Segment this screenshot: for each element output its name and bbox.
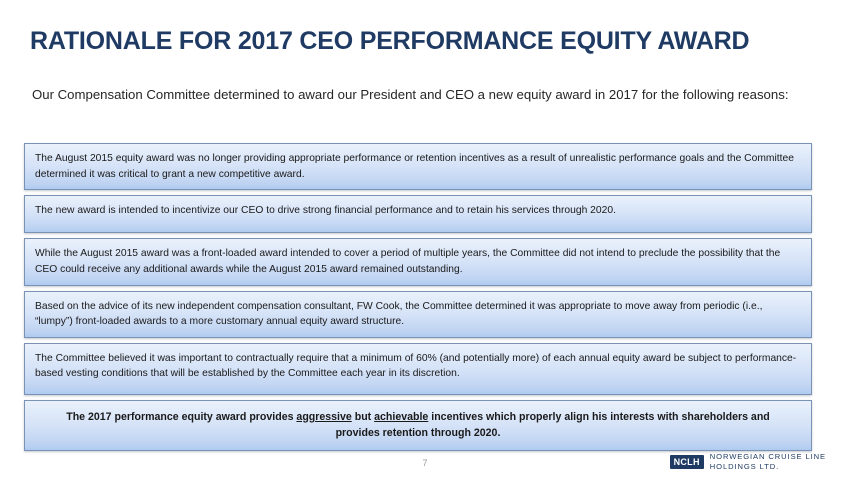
summary-box: The 2017 performance equity award provid… <box>24 400 812 451</box>
reason-box: Based on the advice of its new independe… <box>24 291 812 338</box>
summary-emphasis-aggressive: aggressive <box>296 411 351 423</box>
nclh-logo: NCLH NORWEGIAN CRUISE LINE HOLDINGS LTD. <box>670 452 826 473</box>
reason-box: The new award is intended to incentivize… <box>24 195 812 233</box>
reason-box-text: The Committee believed it was important … <box>35 353 796 380</box>
reason-box-text: Based on the advice of its new independe… <box>35 301 762 328</box>
summary-part-2: but <box>352 411 374 423</box>
nclh-logo-line-2: HOLDINGS LTD. <box>710 462 779 471</box>
reason-box-text: The new award is intended to incentivize… <box>35 205 616 216</box>
summary-box-text: The 2017 performance equity award provid… <box>63 409 773 442</box>
reason-box-text: While the August 2015 award was a front-… <box>35 248 780 275</box>
reason-box-text: The August 2015 equity award was no long… <box>35 153 794 180</box>
page-title: RATIONALE FOR 2017 CEO PERFORMANCE EQUIT… <box>30 28 820 56</box>
summary-part-1: The 2017 performance equity award provid… <box>66 411 296 423</box>
reason-box: While the August 2015 award was a front-… <box>24 238 812 285</box>
nclh-logo-mark: NCLH <box>670 455 704 469</box>
slide: RATIONALE FOR 2017 CEO PERFORMANCE EQUIT… <box>0 0 850 478</box>
reason-box: The August 2015 equity award was no long… <box>24 143 812 190</box>
nclh-logo-line-1: NORWEGIAN CRUISE LINE <box>710 452 826 461</box>
reason-box-list: The August 2015 equity award was no long… <box>24 143 812 451</box>
summary-emphasis-achievable: achievable <box>374 411 428 423</box>
reason-box: The Committee believed it was important … <box>24 343 812 395</box>
intro-paragraph: Our Compensation Committee determined to… <box>32 84 794 105</box>
nclh-logo-text: NORWEGIAN CRUISE LINE HOLDINGS LTD. <box>710 452 826 473</box>
